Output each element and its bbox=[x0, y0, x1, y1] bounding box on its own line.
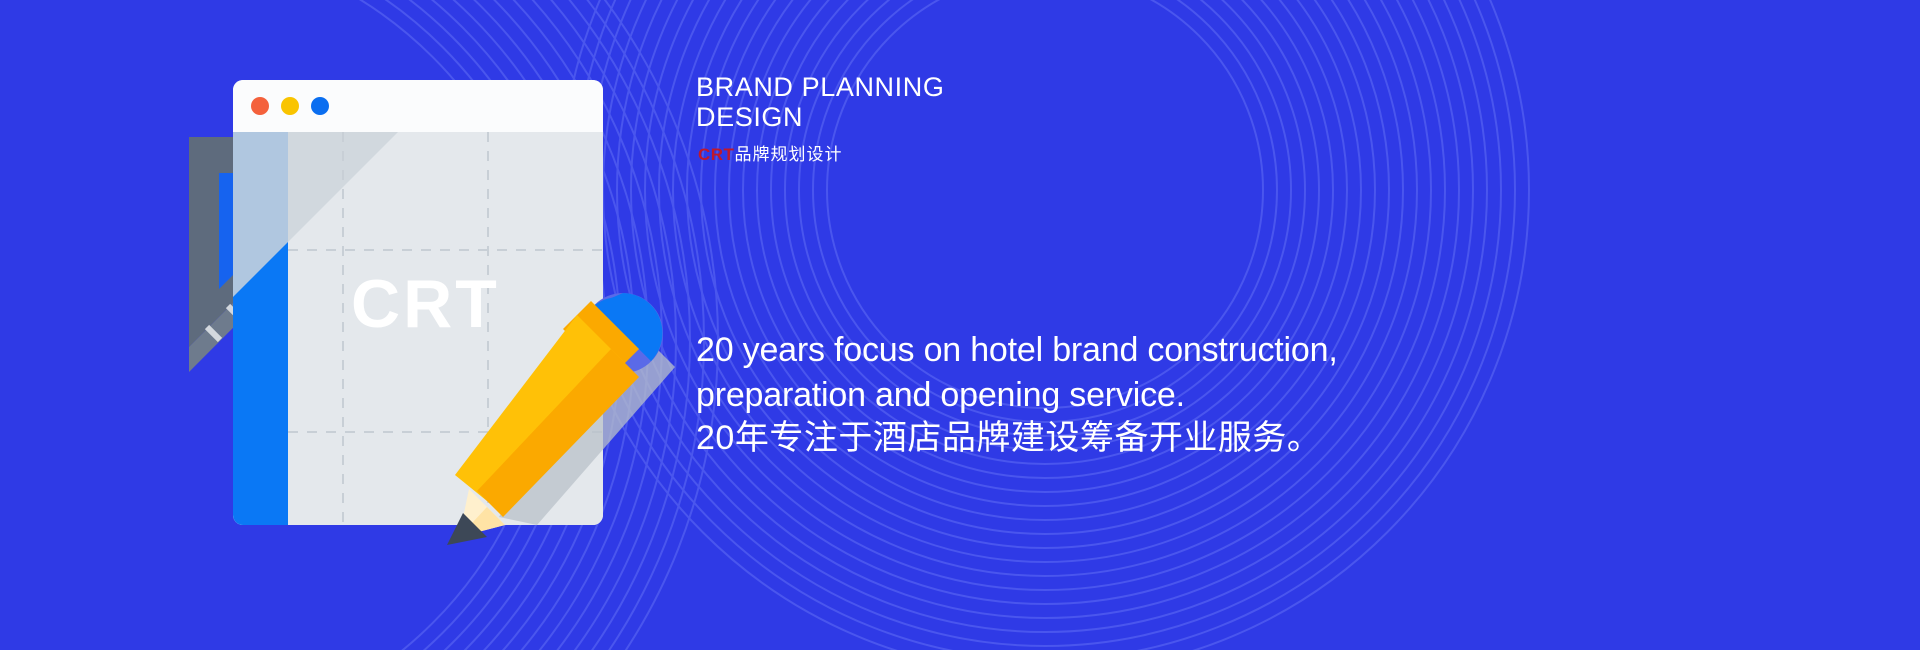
banner-text-column: BRAND PLANNING DESIGN CRT品牌规划设计 20 years… bbox=[696, 0, 1596, 650]
crt-watermark: CRT bbox=[351, 270, 500, 338]
brand-design-illustration: CRT bbox=[185, 80, 685, 560]
banner-headline: BRAND PLANNING DESIGN bbox=[696, 72, 1116, 132]
promo-banner: CRT bbox=[0, 0, 1920, 650]
headline-line-1: BRAND PLANNING bbox=[696, 72, 1116, 102]
window-control-dots bbox=[251, 97, 329, 115]
browser-window-card: CRT bbox=[233, 80, 603, 525]
subheading-chinese: 品牌规划设计 bbox=[734, 145, 842, 164]
banner-subheading: CRT品牌规划设计 bbox=[698, 140, 842, 165]
tagline-english: 20 years focus on hotel brand constructi… bbox=[696, 328, 1376, 418]
traffic-light-yellow-icon bbox=[281, 97, 299, 115]
traffic-light-red-icon bbox=[251, 97, 269, 115]
brand-name-crt: CRT bbox=[698, 145, 734, 164]
browser-title-bar bbox=[233, 80, 603, 132]
tagline-en-line-1: 20 years focus on hotel brand constructi… bbox=[696, 328, 1376, 373]
document-canvas: CRT bbox=[233, 132, 603, 525]
headline-line-2: DESIGN bbox=[696, 102, 1116, 132]
tagline-chinese: 20年专注于酒店品牌建设筹备开业服务。 bbox=[696, 410, 1321, 459]
traffic-light-blue-icon bbox=[311, 97, 329, 115]
